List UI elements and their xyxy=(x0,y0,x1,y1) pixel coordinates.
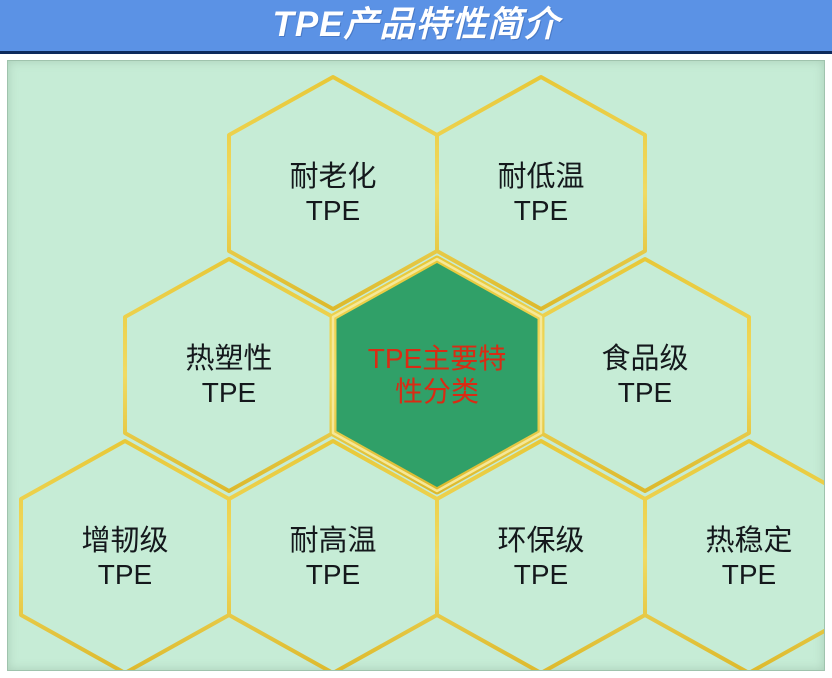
content-panel: 耐老化TPE耐低温TPE热塑性TPE食品级TPE增韧级TPE耐高温TPE环保级T… xyxy=(7,60,825,671)
honeycomb-diagram xyxy=(8,61,825,671)
slide-canvas: TPE产品特性简介 耐老化TPE耐低温TPE热塑性TPE食品级TPE增韧级TPE… xyxy=(0,0,832,678)
honeycomb-svg xyxy=(8,61,825,671)
title-bar: TPE产品特性简介 xyxy=(0,0,832,54)
page-title: TPE产品特性简介 xyxy=(272,7,559,42)
hex-shape-group xyxy=(21,77,825,671)
